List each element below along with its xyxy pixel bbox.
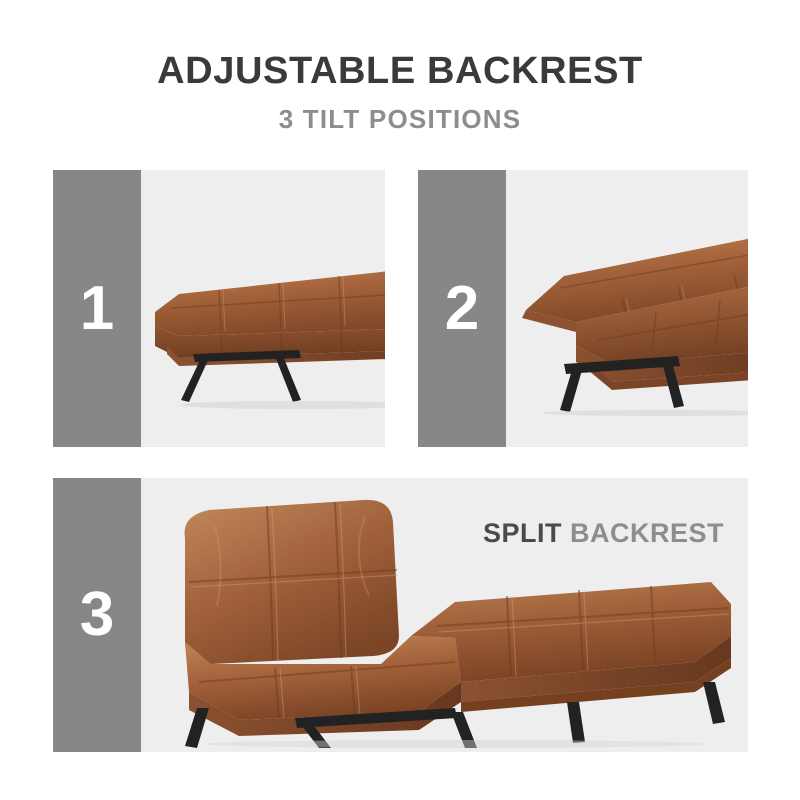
- position-number-3: 3: [80, 584, 114, 646]
- position-number-2: 2: [445, 278, 479, 340]
- sofa-image-flat: [149, 250, 385, 410]
- infographic-root: ADJUSTABLE BACKREST 3 TILT POSITIONS 1: [0, 0, 800, 800]
- product-photo-1: [141, 170, 385, 447]
- header: ADJUSTABLE BACKREST 3 TILT POSITIONS: [0, 52, 800, 133]
- sofa-image-split: [155, 486, 735, 748]
- panel-position-3: 3 SPLIT BACKREST: [53, 478, 748, 752]
- page-title: ADJUSTABLE BACKREST: [0, 52, 800, 92]
- product-photo-3: SPLIT BACKREST: [141, 478, 748, 752]
- product-photo-2: [506, 170, 748, 447]
- panel-position-2: 2: [418, 170, 748, 447]
- position-number-1: 1: [80, 278, 114, 340]
- number-strip-3: 3: [53, 478, 141, 752]
- number-strip-2: 2: [418, 170, 506, 447]
- page-subtitle: 3 TILT POSITIONS: [0, 92, 800, 133]
- number-strip-1: 1: [53, 170, 141, 447]
- panel-position-1: 1: [53, 170, 385, 447]
- sofa-image-tilted: [506, 214, 748, 414]
